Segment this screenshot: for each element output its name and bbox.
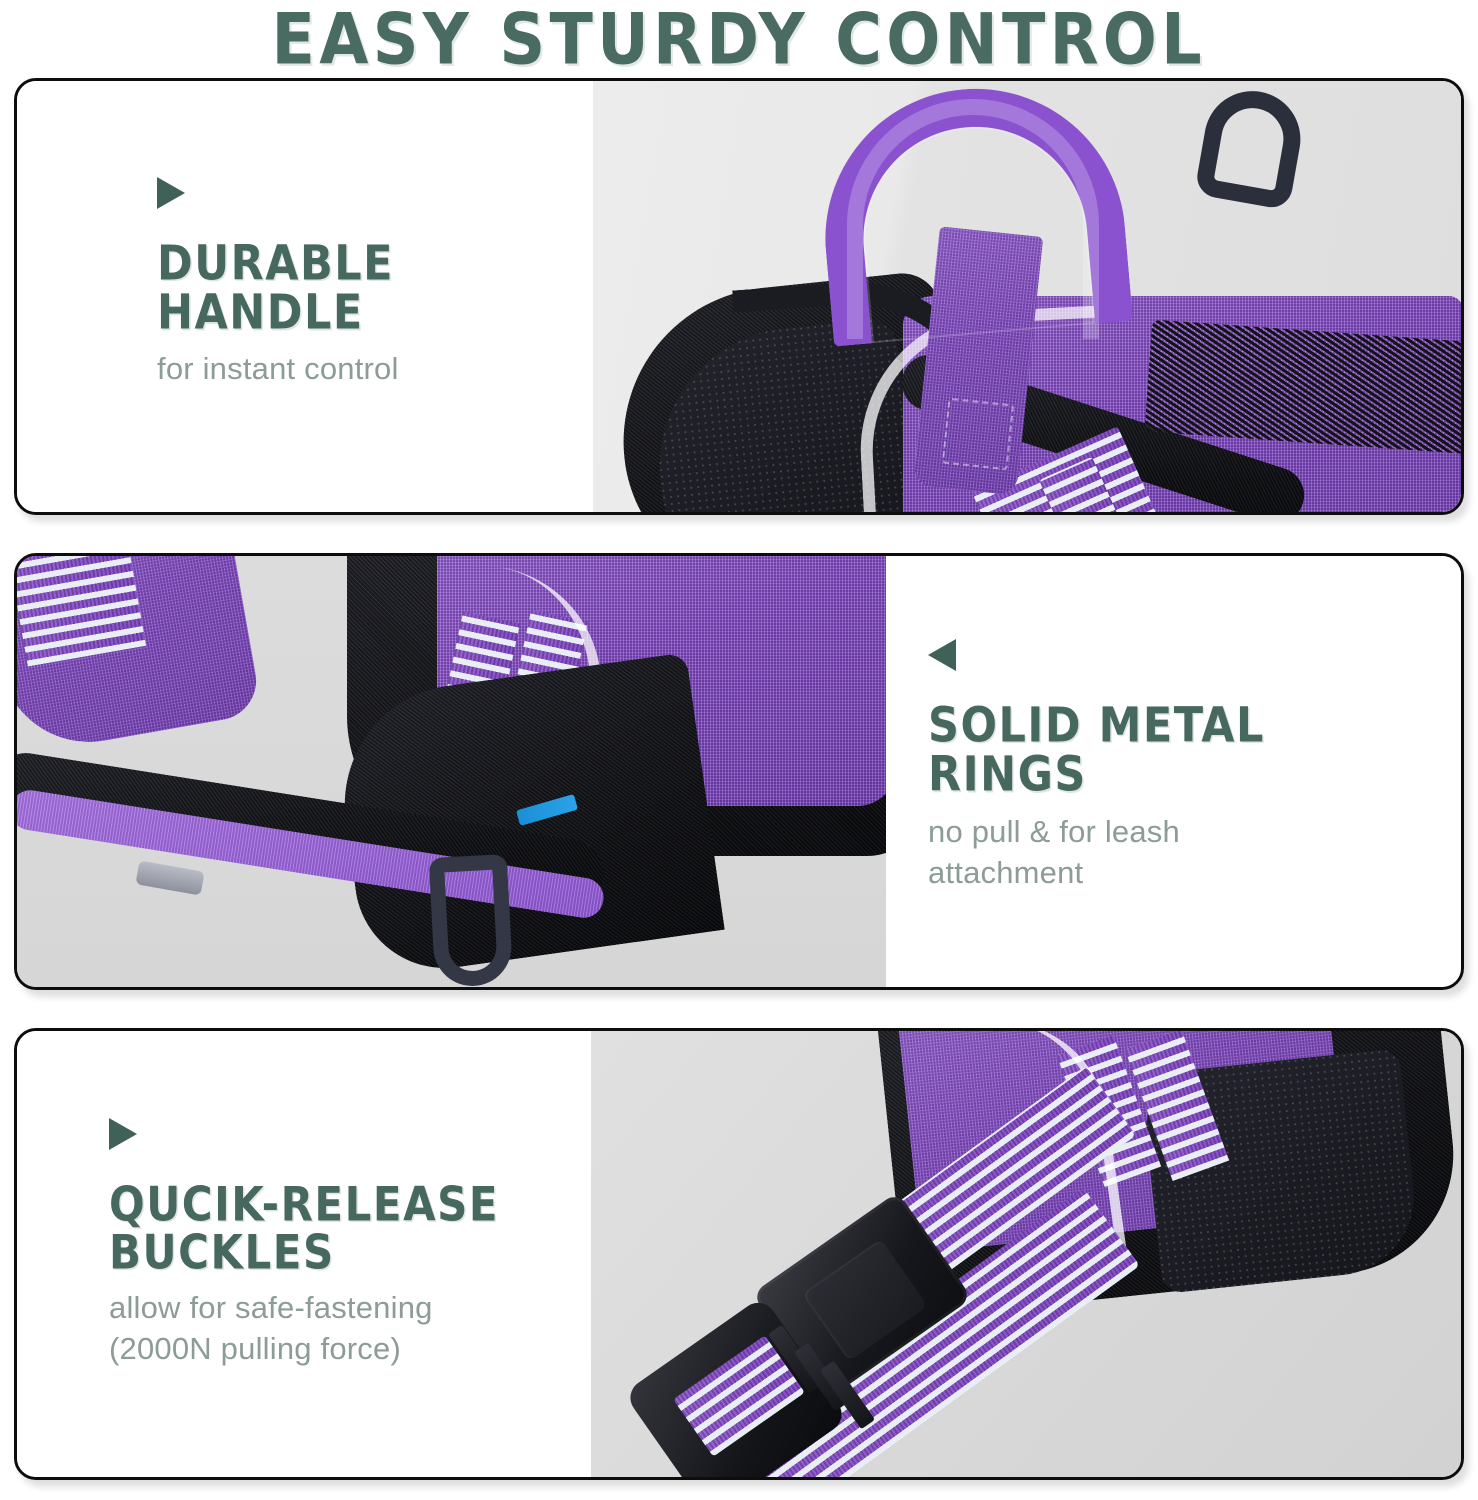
buckle-illustration: [591, 1031, 1461, 1477]
harness-ring-illustration: [17, 556, 886, 987]
velcro-patch: [1144, 320, 1461, 455]
harness-illustration: [593, 81, 1461, 512]
panel-text-block: QUCIK-RELEASE BUCKLES allow for safe-fas…: [17, 1031, 591, 1477]
panel-subtitle: allow for safe-fastening (2000N pulling …: [109, 1288, 591, 1370]
product-photo-durable-handle: [593, 81, 1461, 512]
panel-headline: DURABLE HANDLE: [157, 239, 593, 338]
page-header: EASY STURDY CONTROL: [0, 0, 1478, 78]
panel-text-block: DURABLE HANDLE for instant control: [17, 81, 593, 512]
metal-d-ring-icon: [1194, 84, 1308, 211]
triangle-right-icon: [109, 1118, 137, 1150]
product-photo-metal-rings: [17, 556, 886, 987]
feature-panel-durable-handle: DURABLE HANDLE for instant control: [14, 78, 1464, 515]
page-title: EASY STURDY CONTROL: [272, 0, 1206, 81]
handle-stitching: [942, 398, 1015, 471]
strap-slider-clip: [135, 860, 204, 895]
panel-text-block: SOLID METAL RINGS no pull & for leash at…: [886, 556, 1461, 987]
triangle-right-icon: [157, 177, 185, 209]
feature-panel-list: DURABLE HANDLE for instant control: [0, 78, 1478, 1480]
top-handle-loop: [813, 81, 1133, 347]
panel-subtitle: for instant control: [157, 349, 593, 390]
product-photo-quick-release-buckles: [591, 1031, 1461, 1477]
panel-headline: SOLID METAL RINGS: [928, 701, 1461, 800]
panel-headline: QUCIK-RELEASE BUCKLES: [109, 1180, 591, 1277]
feature-panel-solid-metal-rings: SOLID METAL RINGS no pull & for leash at…: [14, 553, 1464, 990]
metal-leash-ring-icon: [429, 854, 514, 987]
panel-subtitle: no pull & for leash attachment: [928, 812, 1461, 894]
feature-panel-quick-release-buckles: QUCIK-RELEASE BUCKLES allow for safe-fas…: [14, 1028, 1464, 1480]
triangle-left-icon: [928, 639, 956, 671]
